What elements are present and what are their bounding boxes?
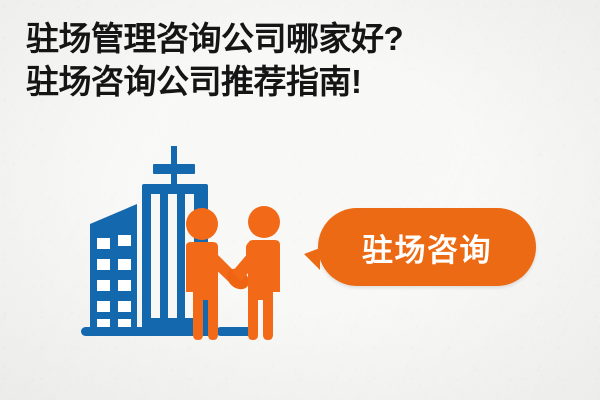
person-right (232, 206, 280, 340)
building-window (97, 238, 110, 249)
headline-block: 驻场管理咨询公司哪家好? 驻场咨询公司推荐指南! (26, 22, 574, 98)
tall-building-stripe (168, 194, 177, 318)
building-window (118, 280, 131, 291)
tall-building-stripe (151, 194, 160, 318)
office-buildings-handshake-illustration (70, 142, 300, 342)
building-window (118, 235, 131, 246)
person-left-head (186, 208, 218, 240)
speech-bubble-badge[interactable]: 驻场咨询 (318, 208, 536, 286)
person-right-head (248, 206, 280, 238)
short-office-building (90, 204, 137, 332)
building-window (118, 259, 131, 270)
building-window (97, 280, 110, 291)
antenna-stem-icon (171, 174, 177, 184)
speech-bubble-label: 驻场咨询 (318, 208, 536, 286)
antenna-crossbar-icon (153, 164, 195, 174)
promo-banner: 驻场管理咨询公司哪家好? 驻场咨询公司推荐指南! (0, 0, 600, 400)
building-window (97, 259, 110, 270)
building-window (97, 319, 110, 328)
headline-line-2: 驻场咨询公司推荐指南! (26, 65, 574, 98)
person-right-arm-fill (246, 242, 258, 268)
building-window (97, 301, 110, 312)
headline-line-1: 驻场管理咨询公司哪家好? (26, 22, 574, 55)
building-window (118, 301, 131, 312)
building-window (118, 319, 131, 328)
